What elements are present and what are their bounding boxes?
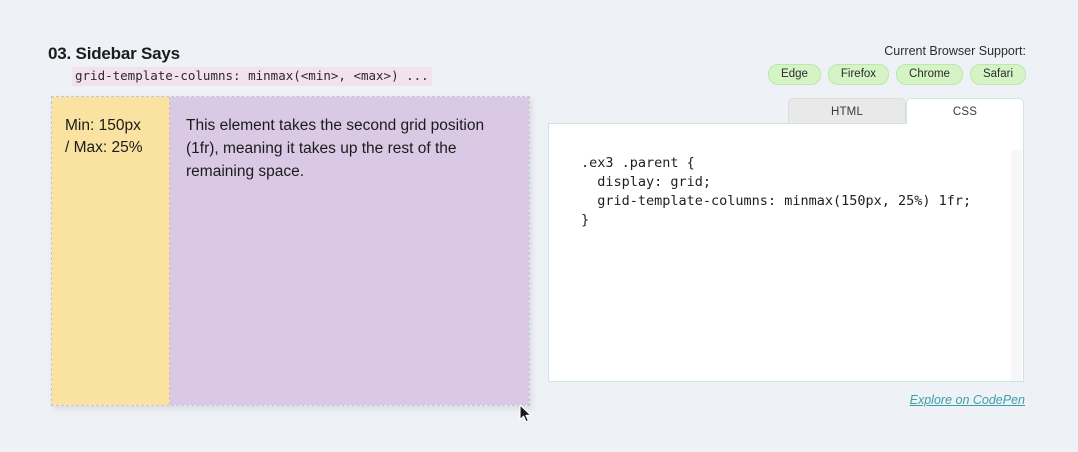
code-content: .ex3 .parent { display: grid; grid-templ… [549, 124, 1023, 230]
browser-pill-safari: Safari [970, 64, 1026, 85]
browser-pill-chrome: Chrome [896, 64, 963, 85]
grid-demo-panel: Min: 150px / Max: 25% This element takes… [51, 96, 530, 406]
code-viewer[interactable]: .ex3 .parent { display: grid; grid-templ… [548, 123, 1024, 382]
demo-main-label: This element takes the second grid posit… [186, 114, 515, 183]
tab-css[interactable]: CSS [906, 98, 1024, 124]
tab-html[interactable]: HTML [788, 98, 906, 124]
page-header: 03. Sidebar Says grid-template-columns: … [0, 0, 1078, 90]
demo-sidebar-cell: Min: 150px / Max: 25% [52, 97, 170, 405]
title-block: 03. Sidebar Says grid-template-columns: … [48, 44, 432, 86]
browser-support-block: Current Browser Support: Edge Firefox Ch… [768, 44, 1026, 85]
browser-pill-firefox: Firefox [828, 64, 889, 85]
code-tabs: HTML CSS [788, 98, 1024, 124]
code-panel: HTML CSS .ex3 .parent { display: grid; g… [548, 98, 1024, 383]
code-scrollbar[interactable] [1011, 150, 1022, 382]
mouse-cursor-icon [519, 404, 533, 424]
browser-support-pills: Edge Firefox Chrome Safari [768, 64, 1026, 85]
demo-sidebar-label: Min: 150px / Max: 25% [65, 115, 169, 159]
title-code-snippet: grid-template-columns: minmax(<min>, <ma… [72, 67, 432, 86]
demo-main-cell: This element takes the second grid posit… [170, 97, 529, 405]
browser-pill-edge: Edge [768, 64, 821, 85]
page-title: 03. Sidebar Says [48, 44, 432, 64]
explore-on-codepen-link[interactable]: Explore on CodePen [910, 393, 1025, 407]
browser-support-label: Current Browser Support: [768, 44, 1026, 59]
